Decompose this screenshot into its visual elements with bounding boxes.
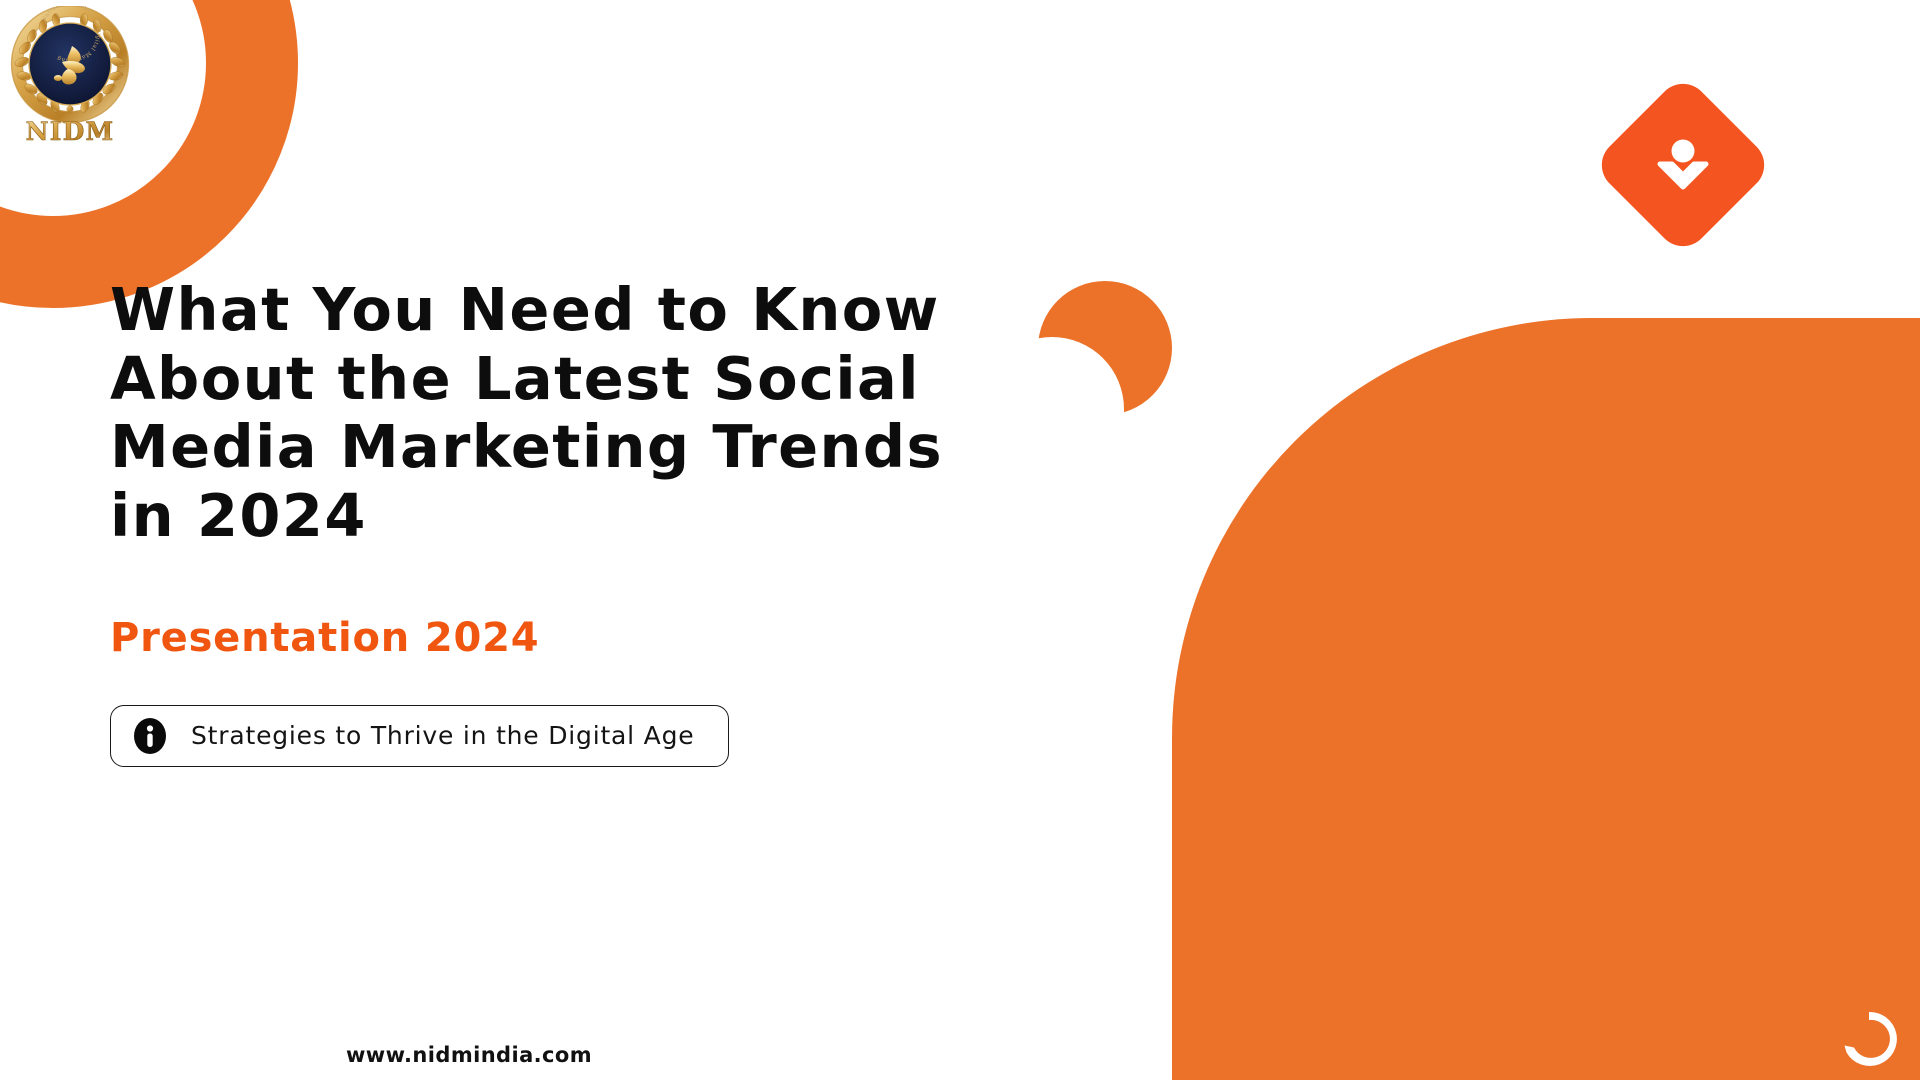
info-icon — [131, 717, 169, 755]
person-diamond-badge — [1618, 100, 1748, 230]
notched-circle-decoration — [1038, 281, 1172, 415]
tagline-badge: Strategies to Thrive in the Digital Age — [110, 705, 729, 767]
person-icon — [1618, 100, 1748, 230]
presentation-slide: National Institute of Digital Marketing … — [0, 0, 1920, 1080]
tagline-text: Strategies to Thrive in the Digital Age — [191, 721, 694, 750]
nidm-logo: National Institute of Digital Marketing … — [8, 6, 132, 146]
slide-content: What You Need to Know About the Latest S… — [110, 276, 1010, 767]
footer-website-url: www.nidmindia.com — [346, 1043, 592, 1067]
page-title: What You Need to Know About the Latest S… — [110, 276, 1010, 551]
slide-subtitle: Presentation 2024 — [110, 615, 1010, 661]
circle-notch-icon — [1838, 1008, 1900, 1070]
nidm-emblem-icon: National Institute of Digital Marketing … — [8, 6, 132, 146]
svg-text:NIDM: NIDM — [26, 117, 115, 146]
orange-panel-decoration — [1172, 318, 1920, 1080]
